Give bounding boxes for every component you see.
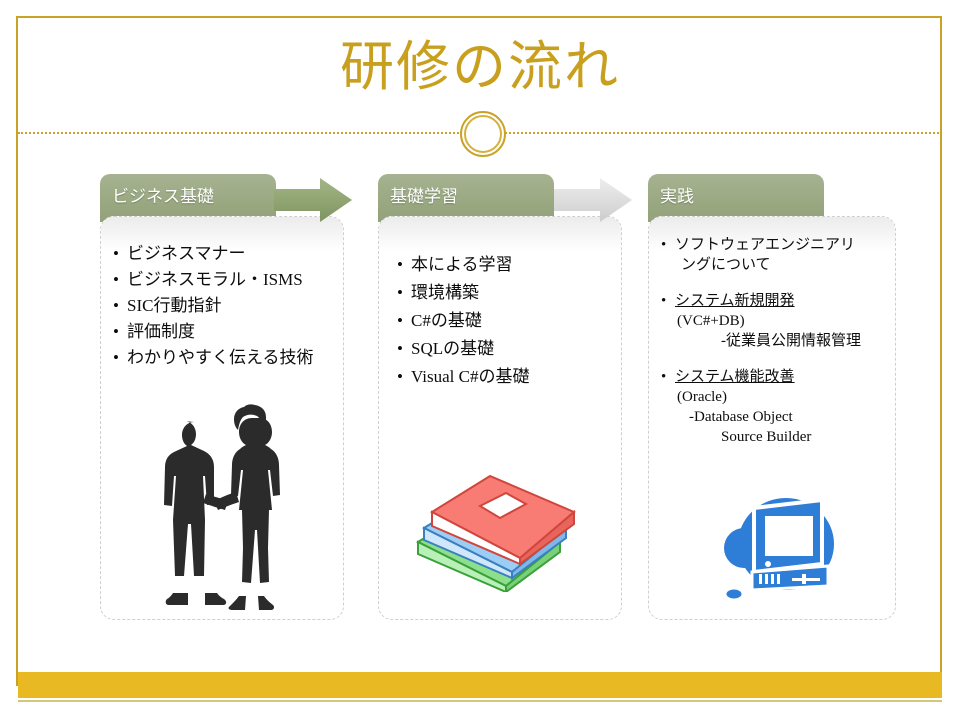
slide-canvas: 研修の流れ ビジネス基礎 •ビジネスマナー •ビジネスモラル・ISMS •SIC…	[0, 0, 960, 720]
list-item: •評価制度	[111, 319, 337, 345]
page-title: 研修の流れ	[0, 36, 960, 98]
list-item: •環境構築	[395, 279, 615, 307]
list-item: •わかりやすく伝える技術	[111, 345, 337, 371]
list-item: •ビジネスモラル・ISMS	[111, 267, 337, 293]
column-header-business-basics: ビジネス基礎	[100, 174, 276, 222]
handshake-people-illustration	[148, 398, 298, 610]
list-item: • ソフトウェアエンジニアリ ングについて	[659, 235, 891, 275]
bottom-band-underline	[18, 700, 942, 702]
item-lead: ソフトウェアエンジニアリ	[675, 235, 891, 255]
item-sub-detail-2: Source Builder	[675, 427, 891, 447]
item-sub-detail: -従業員公開情報管理	[675, 331, 891, 351]
item-lead: システム新規開発	[675, 291, 891, 311]
list-item: •Visual C#の基礎	[395, 363, 615, 391]
ring-ornament-icon	[460, 111, 506, 157]
item-sub: (Oracle)	[675, 387, 891, 407]
item-sub-detail: -Database Object	[675, 407, 891, 427]
bullet-list-practice: • ソフトウェアエンジニアリ ングについて • システム新規開発 (VC#+DB…	[649, 235, 895, 447]
item-lead: システム機能改善	[675, 367, 891, 387]
stack-of-books-illustration	[410, 470, 580, 592]
bottom-gold-band	[18, 672, 942, 698]
list-item: •SQLの基礎	[395, 335, 615, 363]
bullet-list-business-basics: •ビジネスマナー •ビジネスモラル・ISMS •SIC行動指針 •評価制度 •わ…	[101, 241, 343, 371]
flow-arrow-right-icon-1	[272, 176, 354, 224]
flow-arrow-right-icon-2	[552, 176, 634, 224]
item-sub: (VC#+DB)	[675, 311, 891, 331]
list-item: •SIC行動指針	[111, 293, 337, 319]
column-header-basic-study: 基礎学習	[378, 174, 554, 222]
item-continuation: ングについて	[675, 255, 891, 275]
list-item: • システム新規開発 (VC#+DB) -従業員公開情報管理	[659, 291, 891, 351]
list-item: •ビジネスマナー	[111, 241, 337, 267]
list-item: •C#の基礎	[395, 307, 615, 335]
column-practice: 実践 • ソフトウェアエンジニアリ ングについて • システム新規開発 (VC#…	[648, 174, 896, 222]
column-header-practice: 実践	[648, 174, 824, 222]
list-item: •本による学習	[395, 251, 615, 279]
desktop-computer-illustration	[718, 492, 848, 600]
list-item: • システム機能改善 (Oracle) -Database Object Sou…	[659, 367, 891, 447]
bullet-list-basic-study: •本による学習 •環境構築 •C#の基礎 •SQLの基礎 •Visual C#の…	[379, 251, 621, 391]
